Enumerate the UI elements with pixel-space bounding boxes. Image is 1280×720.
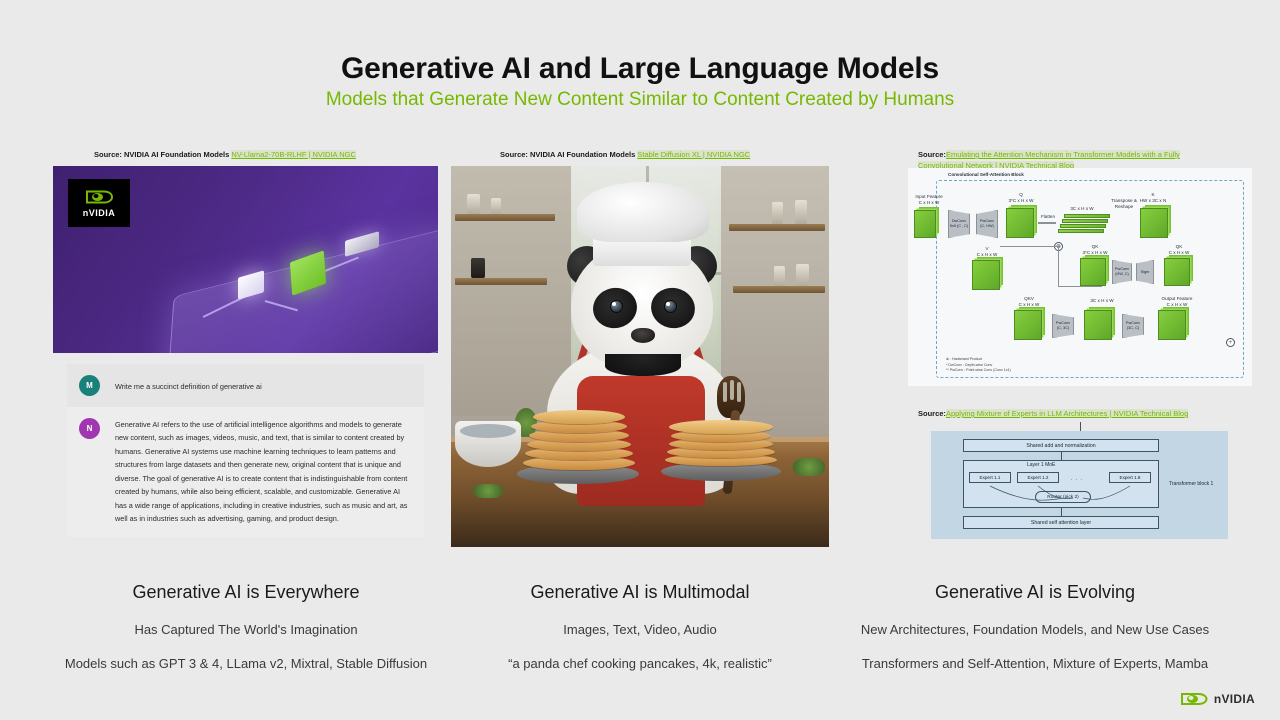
caption-line-1: Has Captured The World's Imagination xyxy=(46,622,446,637)
eye-glint xyxy=(612,302,616,306)
label-qk-2: QK C x H x W xyxy=(1158,244,1200,256)
expert-router-links xyxy=(963,472,1159,504)
pancake-top xyxy=(669,420,773,434)
caption-line-1: Images, Text, Video, Audio xyxy=(440,622,840,637)
source-label: Source: xyxy=(918,409,946,418)
source-label: Source: xyxy=(918,150,946,159)
avatar-user: M xyxy=(79,375,100,396)
panda-chin xyxy=(605,354,681,376)
chat-transcript-panel: M Write me a succinct definition of gene… xyxy=(67,364,424,537)
tensor-block-q xyxy=(1006,208,1034,238)
shelf xyxy=(733,286,825,293)
garnish-herb xyxy=(473,484,503,498)
jar xyxy=(774,266,785,286)
transformer-block-label: Transformer block 1 xyxy=(1169,481,1213,487)
mixing-bowl xyxy=(455,421,521,467)
eye-glint xyxy=(666,302,670,306)
spoon-slot xyxy=(730,380,734,400)
tensor-block-qkv xyxy=(1014,310,1042,340)
arrow xyxy=(1038,222,1056,224)
panda-nose xyxy=(631,328,655,343)
source-label: Source: NVIDIA AI Foundation Models xyxy=(500,150,635,159)
dwconv-block-1: DwConv 5x5 (C , C) xyxy=(948,210,970,238)
shelf xyxy=(455,278,547,285)
label-qkv: QKV C x H x W xyxy=(1008,296,1050,308)
nvidia-eye-icon xyxy=(84,188,114,206)
connector xyxy=(1058,246,1059,286)
tensor-block-k xyxy=(1140,208,1168,238)
chef-hat-puff xyxy=(577,182,709,242)
shelf xyxy=(729,224,825,231)
jar xyxy=(467,194,480,214)
tensor-block-qk xyxy=(1080,258,1106,286)
connector xyxy=(1000,246,1060,247)
tensor-block-output xyxy=(1158,310,1186,340)
label-qk: QK 3*C x H x W xyxy=(1074,244,1116,256)
source-link[interactable]: Emulating the Attention Mechanism in Tra… xyxy=(918,150,1180,170)
nvidia-wordmark: nVIDIA xyxy=(83,208,116,218)
tensor-block-v xyxy=(972,260,1000,290)
chat-user-text: Write me a succinct definition of genera… xyxy=(115,375,262,393)
nvidia-wordmark: nVIDIA xyxy=(1214,692,1255,706)
source-link[interactable]: NV-Llama2-70B-RLHF | NVIDIA NGC xyxy=(231,150,355,159)
pwconv-block-3: PwConv (C, 3C) xyxy=(1052,314,1074,338)
source-line-column-1: Source: NVIDIA AI Foundation Models NV-L… xyxy=(94,150,356,161)
caption-column-2: Generative AI is Multimodal Images, Text… xyxy=(440,582,840,671)
caption-title: Generative AI is Everywhere xyxy=(46,582,446,603)
slide-root: Generative AI and Large Language Models … xyxy=(0,0,1280,720)
source-line-column-4: Source:Applying Mixture of Experts in LL… xyxy=(918,409,1248,420)
source-line-column-2: Source: NVIDIA AI Foundation Models Stab… xyxy=(500,150,750,161)
caption-line-2: Models such as GPT 3 & 4, LLama v2, Mixt… xyxy=(46,656,446,671)
nvidia-eye-icon xyxy=(1179,690,1209,708)
tensor-block-3c xyxy=(1084,310,1112,340)
spoon-slot xyxy=(723,382,727,402)
chat-message-assistant: N Generative AI refers to the use of art… xyxy=(67,407,424,537)
nvidia-foundation-models-card: nVIDIA xyxy=(53,166,438,353)
caption-column-3: Generative AI is Evolving New Architectu… xyxy=(835,582,1235,671)
label-3c-hw-2: 3C x H x W xyxy=(1078,298,1126,304)
attention-mechanism-diagram: Convolutional Self-Attention Block Input… xyxy=(908,168,1252,386)
moe-layer-title: Layer 1 MoE xyxy=(1027,462,1055,468)
shared-add-normalization-box: Shared add and normalization xyxy=(963,439,1159,452)
shelf xyxy=(455,214,555,221)
nvidia-logo-badge: nVIDIA xyxy=(68,179,130,227)
label-v: V C x H x W xyxy=(966,246,1008,258)
label-q: Q 3*C x H x W xyxy=(1000,192,1042,204)
panda-chef-image xyxy=(451,166,829,547)
jar xyxy=(796,264,809,286)
connector xyxy=(1058,286,1102,287)
garnish-herb xyxy=(793,458,825,476)
caption-column-1: Generative AI is Everywhere Has Captured… xyxy=(46,582,446,671)
shared-self-attention-box: Shared self attention layer xyxy=(963,516,1159,529)
label-output-feature: Output Feature C x H x W xyxy=(1150,296,1204,308)
sigmoid-block: Sigm xyxy=(1136,260,1154,284)
footer-nvidia-logo: nVIDIA xyxy=(1179,690,1255,708)
attention-diagram-legend: ⊗ : Hadamard Product * DwConv : Depth-wi… xyxy=(946,357,1011,374)
avatar-assistant: N xyxy=(79,418,100,439)
jar xyxy=(772,202,783,224)
legend-item: ** PwConv : Point-wise Conv (Conv 1x1) xyxy=(946,368,1011,374)
mixture-of-experts-diagram: Shared add and normalization Layer 1 MoE… xyxy=(931,431,1228,539)
label-3c-hw: 3C x H x W xyxy=(1058,206,1106,212)
label-k: K HW x 3C x N xyxy=(1132,192,1174,204)
attention-block-title: Convolutional Self-Attention Block xyxy=(948,172,1058,178)
label-flatten: Flatten xyxy=(1036,214,1060,220)
source-link[interactable]: Stable Diffusion XL | NVIDIA NGC xyxy=(637,150,750,159)
connector xyxy=(1080,422,1081,431)
addition-operator: + xyxy=(1226,338,1235,347)
jar xyxy=(491,198,501,214)
label-input-feature: Input Feature C x H x W xyxy=(908,194,950,206)
caption-title: Generative AI is Multimodal xyxy=(440,582,840,603)
pwconv-block-2: PwConv (HW, C) xyxy=(1112,260,1132,284)
tensor-block-qk2 xyxy=(1164,258,1190,286)
pancake-top xyxy=(533,410,625,424)
connector xyxy=(1061,508,1062,516)
jar xyxy=(471,258,485,278)
pwconv-block-4: PwConv (3C, C) xyxy=(1122,314,1144,338)
source-label: Source: NVIDIA AI Foundation Models xyxy=(94,150,229,159)
page-subtitle: Models that Generate New Content Similar… xyxy=(0,89,1280,111)
caption-line-2: “a panda chef cooking pancakes, 4k, real… xyxy=(440,656,840,671)
chat-message-user: M Write me a succinct definition of gene… xyxy=(67,364,424,407)
caption-line-2: Transformers and Self-Attention, Mixture… xyxy=(835,656,1235,671)
source-link[interactable]: Applying Mixture of Experts in LLM Archi… xyxy=(946,409,1188,418)
page-title: Generative AI and Large Language Models xyxy=(0,52,1280,86)
tensor-block-input xyxy=(914,210,936,238)
jar xyxy=(795,200,807,224)
pwconv-block-1: PwConv (C, HW) xyxy=(976,210,998,238)
connector xyxy=(1061,452,1062,460)
caption-title: Generative AI is Evolving xyxy=(835,582,1235,603)
chat-assistant-text: Generative AI refers to the use of artif… xyxy=(115,418,412,526)
caption-line-1: New Architectures, Foundation Models, an… xyxy=(835,622,1235,637)
spoon-slot xyxy=(737,382,741,402)
